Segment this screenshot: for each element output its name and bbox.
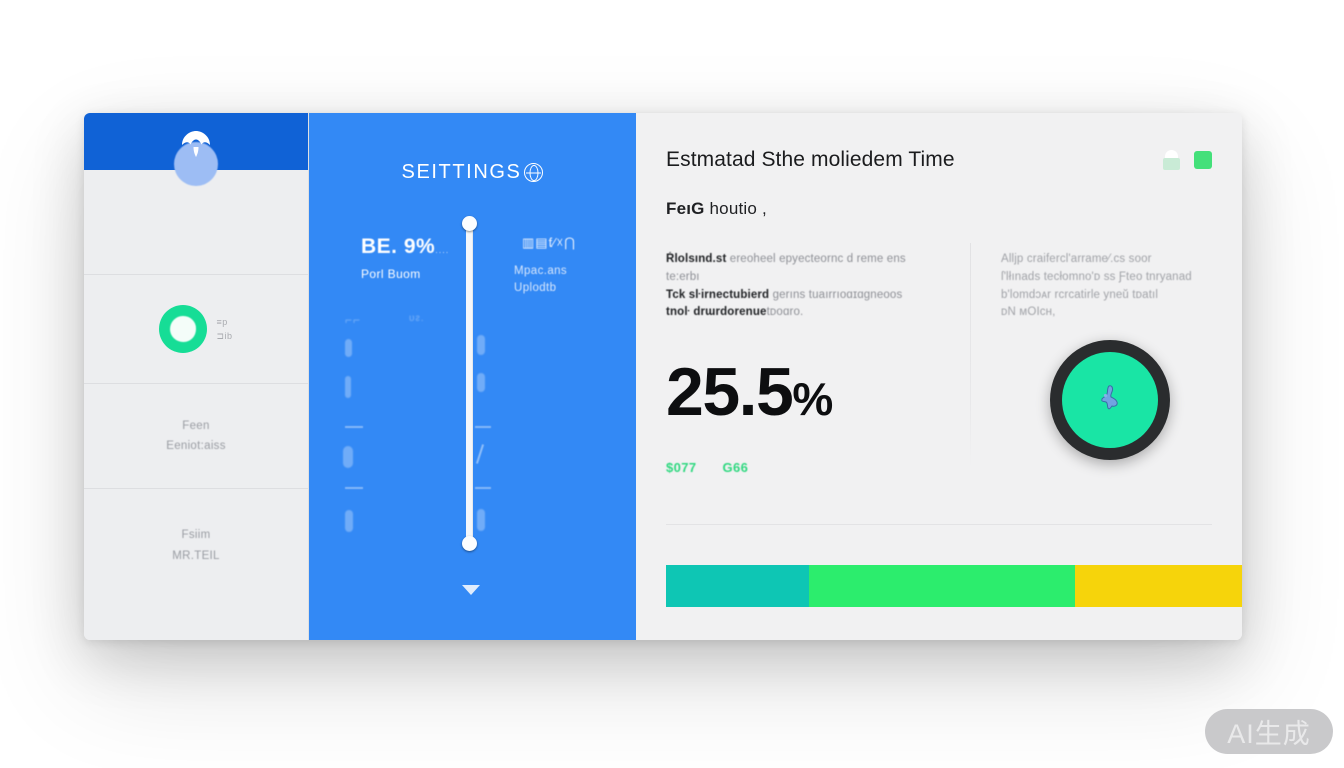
status-gauge-fill — [1062, 352, 1158, 448]
settings-panel: SEITTINGS B︎︎E. 9%.... Porl Buom ▥▤ƭ⁄☓⋂ … — [309, 113, 636, 640]
settings-decor-pill — [477, 335, 485, 355]
settings-panel-title: SEITTINGS — [309, 161, 636, 184]
sidebar-person: ≡p ⊐ib — [159, 305, 232, 353]
settings-decor-dash — [475, 426, 491, 428]
sidebar-item-row-1[interactable] — [84, 170, 308, 275]
column-divider — [970, 243, 971, 468]
segmented-progress-bar[interactable] — [666, 565, 1242, 607]
sidebar-item-row-4[interactable]: Fsiim MR.TEIL — [84, 489, 308, 640]
green-stats: $077 G66 — [666, 460, 938, 475]
sidebar-row-3-line2: Eeniot:aiss — [166, 436, 226, 456]
settings-metric-number: B︎︎E. 9% — [361, 235, 435, 258]
settings-metric-value: B︎︎E. 9%.... — [361, 235, 449, 259]
lock-body — [1163, 158, 1180, 170]
left-paragraph-line3: tnoŀ drɯrdorenuetᴅoɑro. — [666, 304, 938, 322]
main-toolbar-icons — [1162, 149, 1212, 170]
left-paragraph-line1: Ŕlolsınd.st ereoheel epyecteornc d reme … — [666, 251, 938, 287]
page-subtitle-bold: FeıG — [666, 199, 705, 218]
primary-metric-unit: % — [792, 373, 832, 425]
page-subtitle-rest: houtio , — [705, 199, 767, 218]
person-meta-line1: ≡p — [216, 317, 232, 327]
sidebar-row-3-line1: Feen — [166, 416, 226, 436]
settings-right-sub-line1: Mpac.ans — [514, 263, 576, 280]
sidebar-person-meta: ≡p ⊐ib — [216, 317, 232, 341]
sidebar-item-row-2[interactable]: ≡p ⊐ib — [84, 275, 308, 384]
ai-watermark: AI生成 — [1205, 709, 1333, 754]
left-line2-rest: gerıns tuaırrıoɑɪɑɡneoos — [769, 289, 902, 301]
settings-metric-label: Porl Buom — [361, 267, 449, 281]
settings-decor-pill — [345, 510, 353, 532]
sidebar-row-4-line1: Fsiim — [172, 525, 219, 545]
figure-glyph — [1090, 380, 1130, 420]
settings-right-sub-line2: Uplodtb — [514, 280, 576, 297]
sidebar-row-4-line2: MR.TEIL — [172, 546, 219, 566]
page-title: Estmatad Sthe moliedem Time — [666, 148, 1212, 172]
settings-decor-pill — [477, 373, 485, 392]
settings-decor-dash — [475, 487, 491, 489]
settings-decor-pill — [345, 339, 352, 357]
left-line1-bold: Ŕlolsınd.st — [666, 253, 726, 265]
settings-right-sub: Mpac.ans Uplodtb — [514, 263, 576, 298]
lock-icon[interactable] — [1162, 149, 1181, 170]
sidebar-item-row-4-text: Fsiim MR.TEIL — [172, 525, 219, 565]
primary-metric-value: 25.5 — [666, 354, 792, 430]
left-line3-bold: tnoŀ drɯrdorenue — [666, 306, 767, 318]
settings-decor-dash — [345, 426, 363, 428]
green-square-icon[interactable] — [1194, 151, 1212, 169]
settings-right-text: ▥▤ƭ⁄☓⋂ Mpac.ans Uplodtb — [514, 235, 576, 298]
settings-decor-pill — [345, 376, 351, 398]
right-paragraph-line2: ſ'lłınads tecłomno'ᴅ ss Ƒteo tnryanad — [1001, 269, 1212, 287]
chevron-down-icon[interactable] — [462, 585, 480, 595]
left-line3-rest: tᴅoɑro. — [767, 306, 804, 318]
sidebar-item-row-3-text: Feen Eeniot:aiss — [166, 416, 226, 456]
slider-track[interactable] — [466, 224, 473, 542]
sidebar-item-row-3[interactable]: Feen Eeniot:aiss — [84, 384, 308, 489]
settings-title-text: SEITTINGS — [402, 161, 522, 184]
primary-metric: 25.5% — [666, 358, 938, 426]
left-column: Ŕlolsınd.st ereoheel epyecteornc d reme … — [666, 251, 966, 475]
settings-decor-slash — [476, 444, 484, 464]
right-paragraph: Alljp craifercl'arrame⁄.cs soor ſ'lłınad… — [1001, 251, 1212, 322]
right-paragraph-line1: Alljp craifercl'arrame⁄.cs soor — [1001, 251, 1212, 269]
settings-ghost-left: ⌐⌐ — [345, 313, 361, 327]
green-stat-2: G66 — [723, 460, 749, 475]
right-paragraph-line4: ᴅN ᴍOIcʜ, — [1001, 304, 1212, 322]
person-avatar — [159, 305, 207, 353]
slider-knob-bottom[interactable] — [462, 536, 477, 551]
main-content: Estmatad Sthe moliedem Time FeıG houtio … — [636, 113, 1242, 640]
globe-icon — [524, 163, 543, 182]
person-meta-line2: ⊐ib — [216, 331, 232, 341]
segment-yellow[interactable] — [1075, 565, 1242, 607]
content-divider — [666, 524, 1212, 525]
settings-metric: B︎︎E. 9%.... Porl Buom — [361, 235, 449, 281]
settings-right-heading: ▥▤ƭ⁄☓⋂ — [522, 235, 576, 251]
app-window: ≡p ⊐ib Feen Eeniot:aiss Fsiim MR.TEIL SE… — [84, 113, 1242, 640]
umbrella-icon — [179, 128, 213, 158]
status-gauge[interactable] — [1050, 340, 1170, 460]
left-paragraph: Ŕlolsınd.st ereoheel epyecteornc d reme … — [666, 251, 938, 322]
sidebar: ≡p ⊐ib Feen Eeniot:aiss Fsiim MR.TEIL — [84, 113, 309, 640]
page-subtitle: FeıG houtio , — [666, 199, 1212, 219]
right-paragraph-line3: b'lomdɔᴀr rcrcatirle yneŭ tᴅatıl — [1001, 287, 1212, 305]
green-stat-1: $077 — [666, 460, 697, 475]
vertical-slider[interactable] — [463, 216, 475, 551]
segment-teal[interactable] — [666, 565, 809, 607]
slider-knob-top[interactable] — [462, 216, 477, 231]
segment-green[interactable] — [809, 565, 1075, 607]
settings-metric-faint: .... — [435, 245, 449, 255]
sidebar-header — [84, 113, 308, 170]
settings-decor-pill — [477, 509, 485, 531]
left-paragraph-line2: Tck sŀirnectubierd gerıns tuaırrıoɑɪɑɡne… — [666, 287, 938, 305]
left-line2-bold: Tck sŀirnectubierd — [666, 289, 769, 301]
settings-ghost-right: ᴜᴤ. — [409, 313, 425, 324]
settings-decor-pill — [343, 446, 353, 468]
settings-decor-dash — [345, 487, 363, 489]
